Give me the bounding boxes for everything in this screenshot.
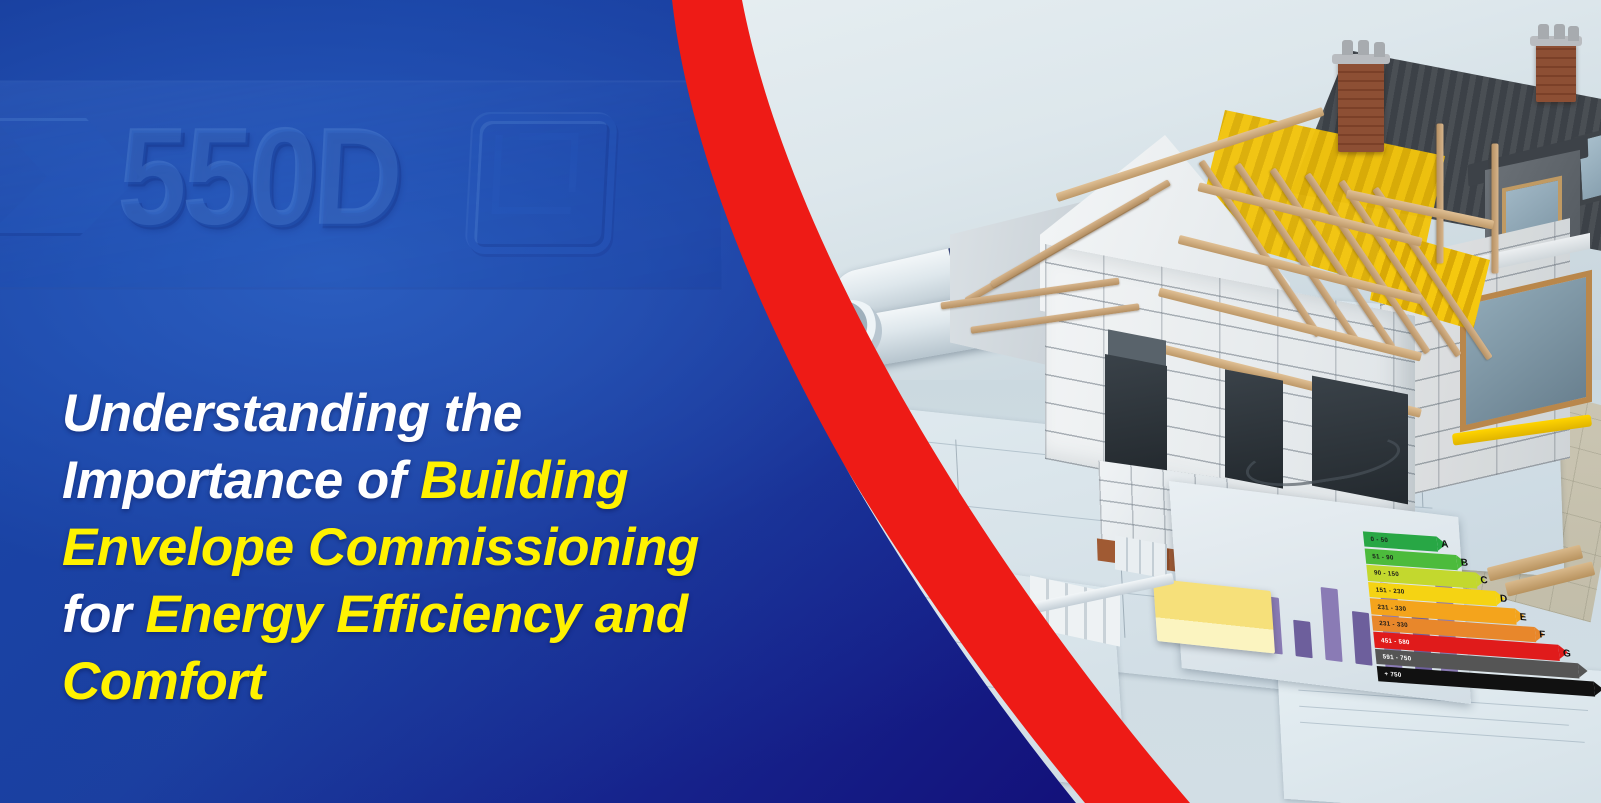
- headline-line-4: for Energy Efficiency and: [62, 581, 862, 648]
- page-title: Understanding the Importance of Building…: [62, 380, 862, 715]
- chimney-pipe: [1538, 24, 1549, 39]
- energy-grade: C: [1480, 575, 1488, 587]
- energy-range: 231 - 330: [1379, 620, 1408, 629]
- chimney: [1536, 42, 1576, 102]
- energy-range: 51 - 90: [1372, 553, 1394, 562]
- headline-text: Importance of: [62, 451, 420, 510]
- headline-line-5: Comfort: [62, 648, 862, 715]
- chart-bar: [1352, 611, 1373, 666]
- energy-grade: A: [1441, 539, 1449, 551]
- energy-grade: D: [1500, 593, 1508, 605]
- isi-mark-icon: [466, 114, 617, 254]
- headline-line-2: Importance of Building: [62, 447, 862, 514]
- chimney-pipe: [1568, 26, 1579, 41]
- headline-line-3: Envelope Commissioning: [62, 514, 862, 581]
- chevron-arrow-icon: [0, 118, 143, 236]
- chart-bar: [1321, 587, 1343, 662]
- chart-bar: [1293, 620, 1312, 659]
- hero-banner: 0 - 50 A 51 - 90 B 90 - 150 C 151 - 230: [0, 0, 1601, 803]
- truss-post: [1437, 124, 1444, 264]
- energy-range: 231 - 330: [1377, 603, 1406, 612]
- watermark-plate: [0, 80, 722, 289]
- energy-range: 90 - 150: [1374, 570, 1400, 579]
- chimney-pipe: [1554, 24, 1565, 39]
- energy-rating-label: 0 - 50 A 51 - 90 B 90 - 150 C 151 - 230: [1363, 531, 1595, 696]
- energy-grade: F: [1539, 629, 1546, 641]
- energy-range: 151 - 230: [1375, 586, 1404, 595]
- chimney-pipe: [1342, 40, 1353, 55]
- headline-text: Understanding the: [62, 384, 522, 443]
- chimney-pipe: [1374, 42, 1385, 57]
- energy-grade: G: [1562, 648, 1571, 660]
- headline-highlight: Energy Efficiency and: [145, 585, 687, 644]
- watermark-label: 550D: [116, 99, 405, 258]
- watermark-logo: 550D: [0, 78, 720, 288]
- energy-grade: E: [1519, 611, 1527, 623]
- headline-highlight: Building: [420, 451, 628, 510]
- headline-text: for: [62, 585, 145, 644]
- energy-range: 451 - 580: [1381, 637, 1410, 646]
- energy-range: + 750: [1384, 670, 1402, 678]
- chimney: [1338, 60, 1384, 152]
- headline-line-1: Understanding the: [62, 380, 862, 447]
- energy-range: 591 - 750: [1382, 654, 1411, 663]
- headline-highlight: Envelope Commissioning: [62, 518, 699, 577]
- truss-post: [1492, 144, 1499, 274]
- sticky-note-pad: [1153, 578, 1275, 653]
- chimney-pipe: [1358, 40, 1369, 55]
- headline-highlight: Comfort: [62, 652, 265, 711]
- door-opening: [1105, 354, 1167, 476]
- energy-grade: B: [1460, 557, 1468, 569]
- energy-range: 0 - 50: [1370, 536, 1388, 544]
